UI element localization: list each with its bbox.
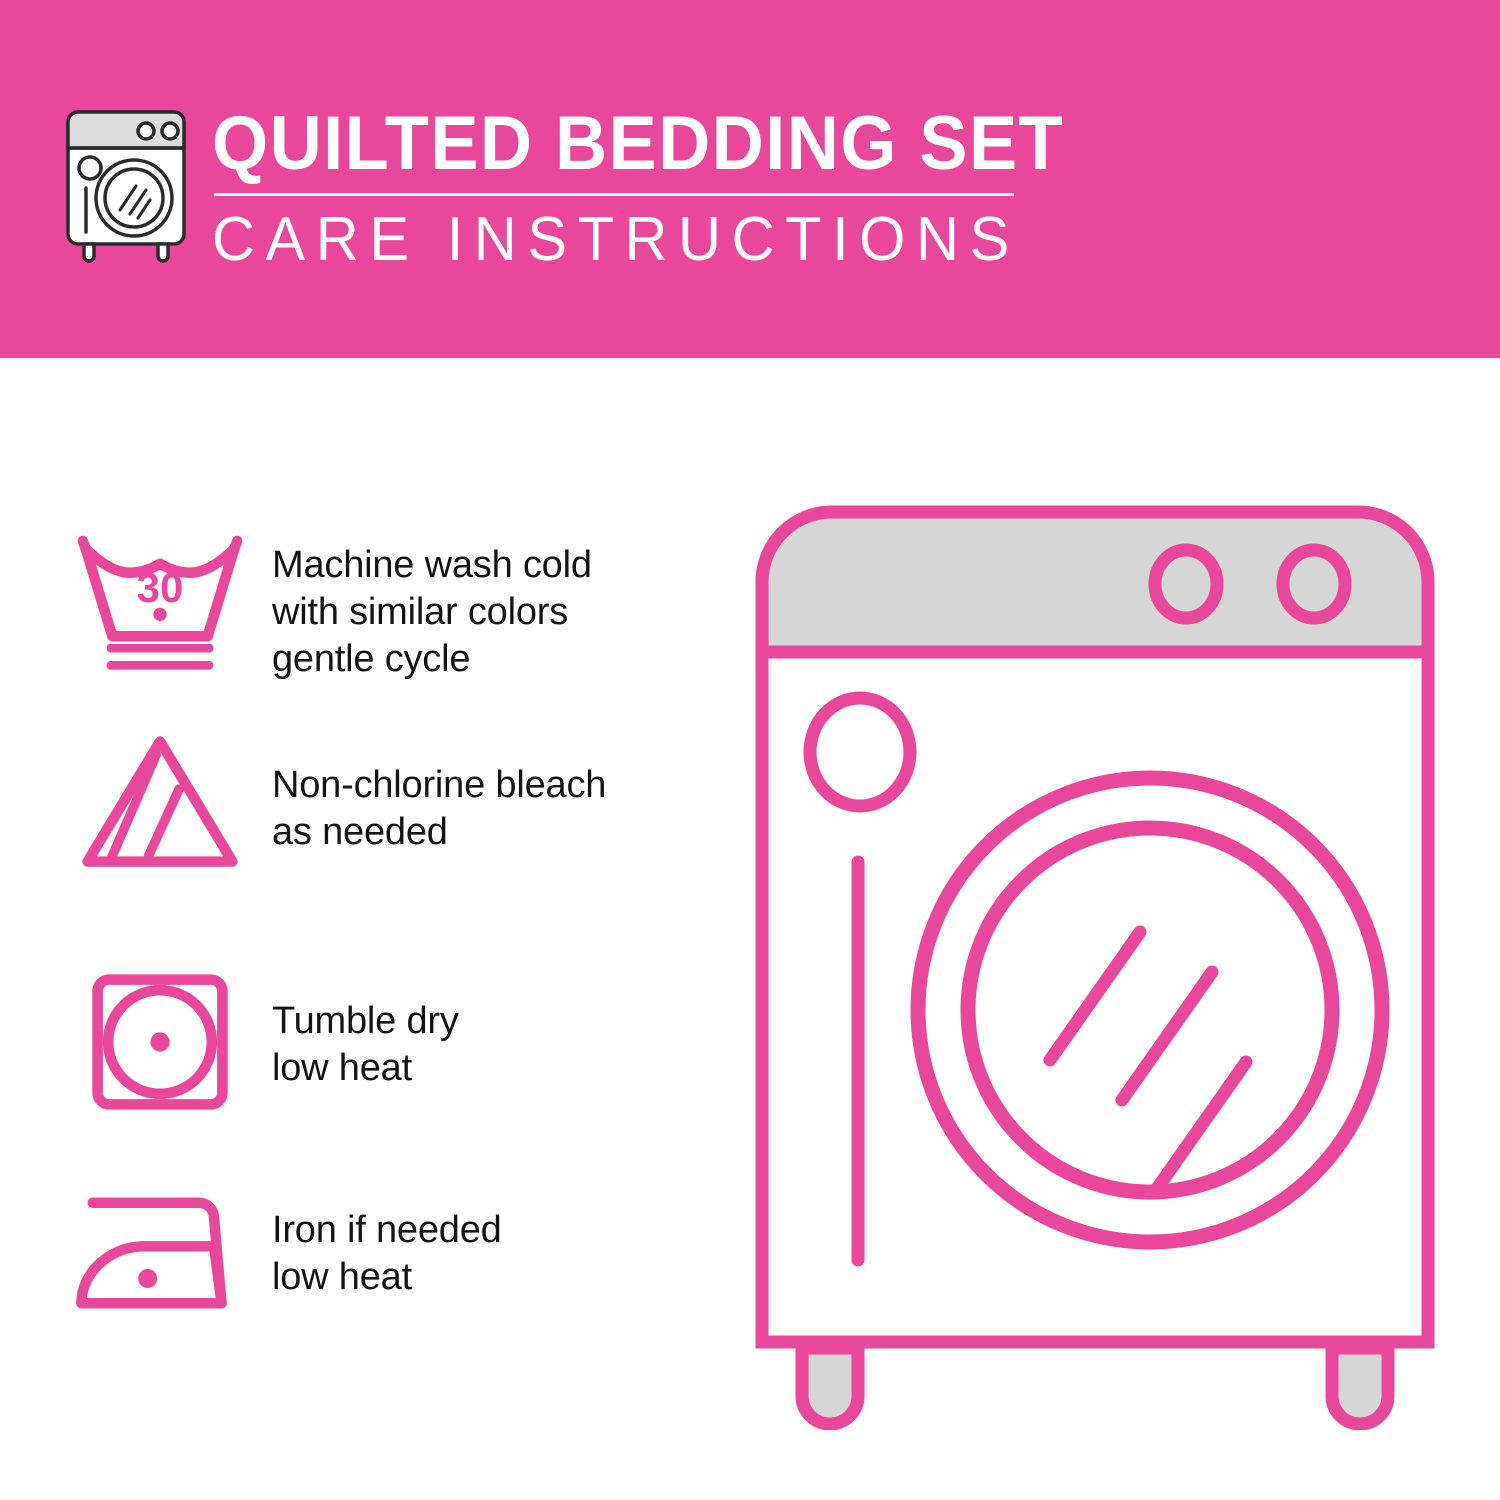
list-item: Tumble dry low heat [70, 970, 710, 1114]
header-band: QUILTED BEDDING SET CARE INSTRUCTIONS [0, 0, 1500, 358]
iron-low-heat-icon [70, 1185, 250, 1319]
tumble-dry-low-icon [70, 970, 250, 1114]
large-washing-machine-illustration [740, 490, 1450, 1430]
header-title-group: QUILTED BEDDING SET CARE INSTRUCTIONS [212, 98, 1109, 276]
wash-temperature-label: 30 [137, 564, 184, 611]
non-chlorine-bleach-triangle-icon [70, 730, 250, 873]
control-panel [762, 512, 1428, 652]
washing-machine-icon [62, 106, 190, 264]
list-item: Non-chlorine bleach as needed [70, 730, 710, 873]
list-item-label: Tumble dry low heat [272, 998, 710, 1092]
leg-right [1332, 1348, 1388, 1424]
list-item: Iron if needed low heat [70, 1185, 710, 1319]
care-instructions-page: QUILTED BEDDING SET CARE INSTRUCTIONS 30 [0, 0, 1500, 1500]
title-divider [214, 193, 1014, 196]
list-item: 30 Machine wash cold with similar colors… [70, 520, 710, 683]
page-subtitle: CARE INSTRUCTIONS [212, 204, 1073, 276]
list-item-label: Machine wash cold with similar colors ge… [272, 542, 710, 683]
leg-left [802, 1348, 858, 1424]
list-item-label: Iron if needed low heat [272, 1207, 710, 1301]
header-content: QUILTED BEDDING SET CARE INSTRUCTIONS [62, 98, 1109, 276]
page-title: QUILTED BEDDING SET [212, 102, 1064, 186]
list-item-label: Non-chlorine bleach as needed [272, 762, 710, 856]
wash-basin-30-gentle-icon: 30 [70, 520, 250, 682]
